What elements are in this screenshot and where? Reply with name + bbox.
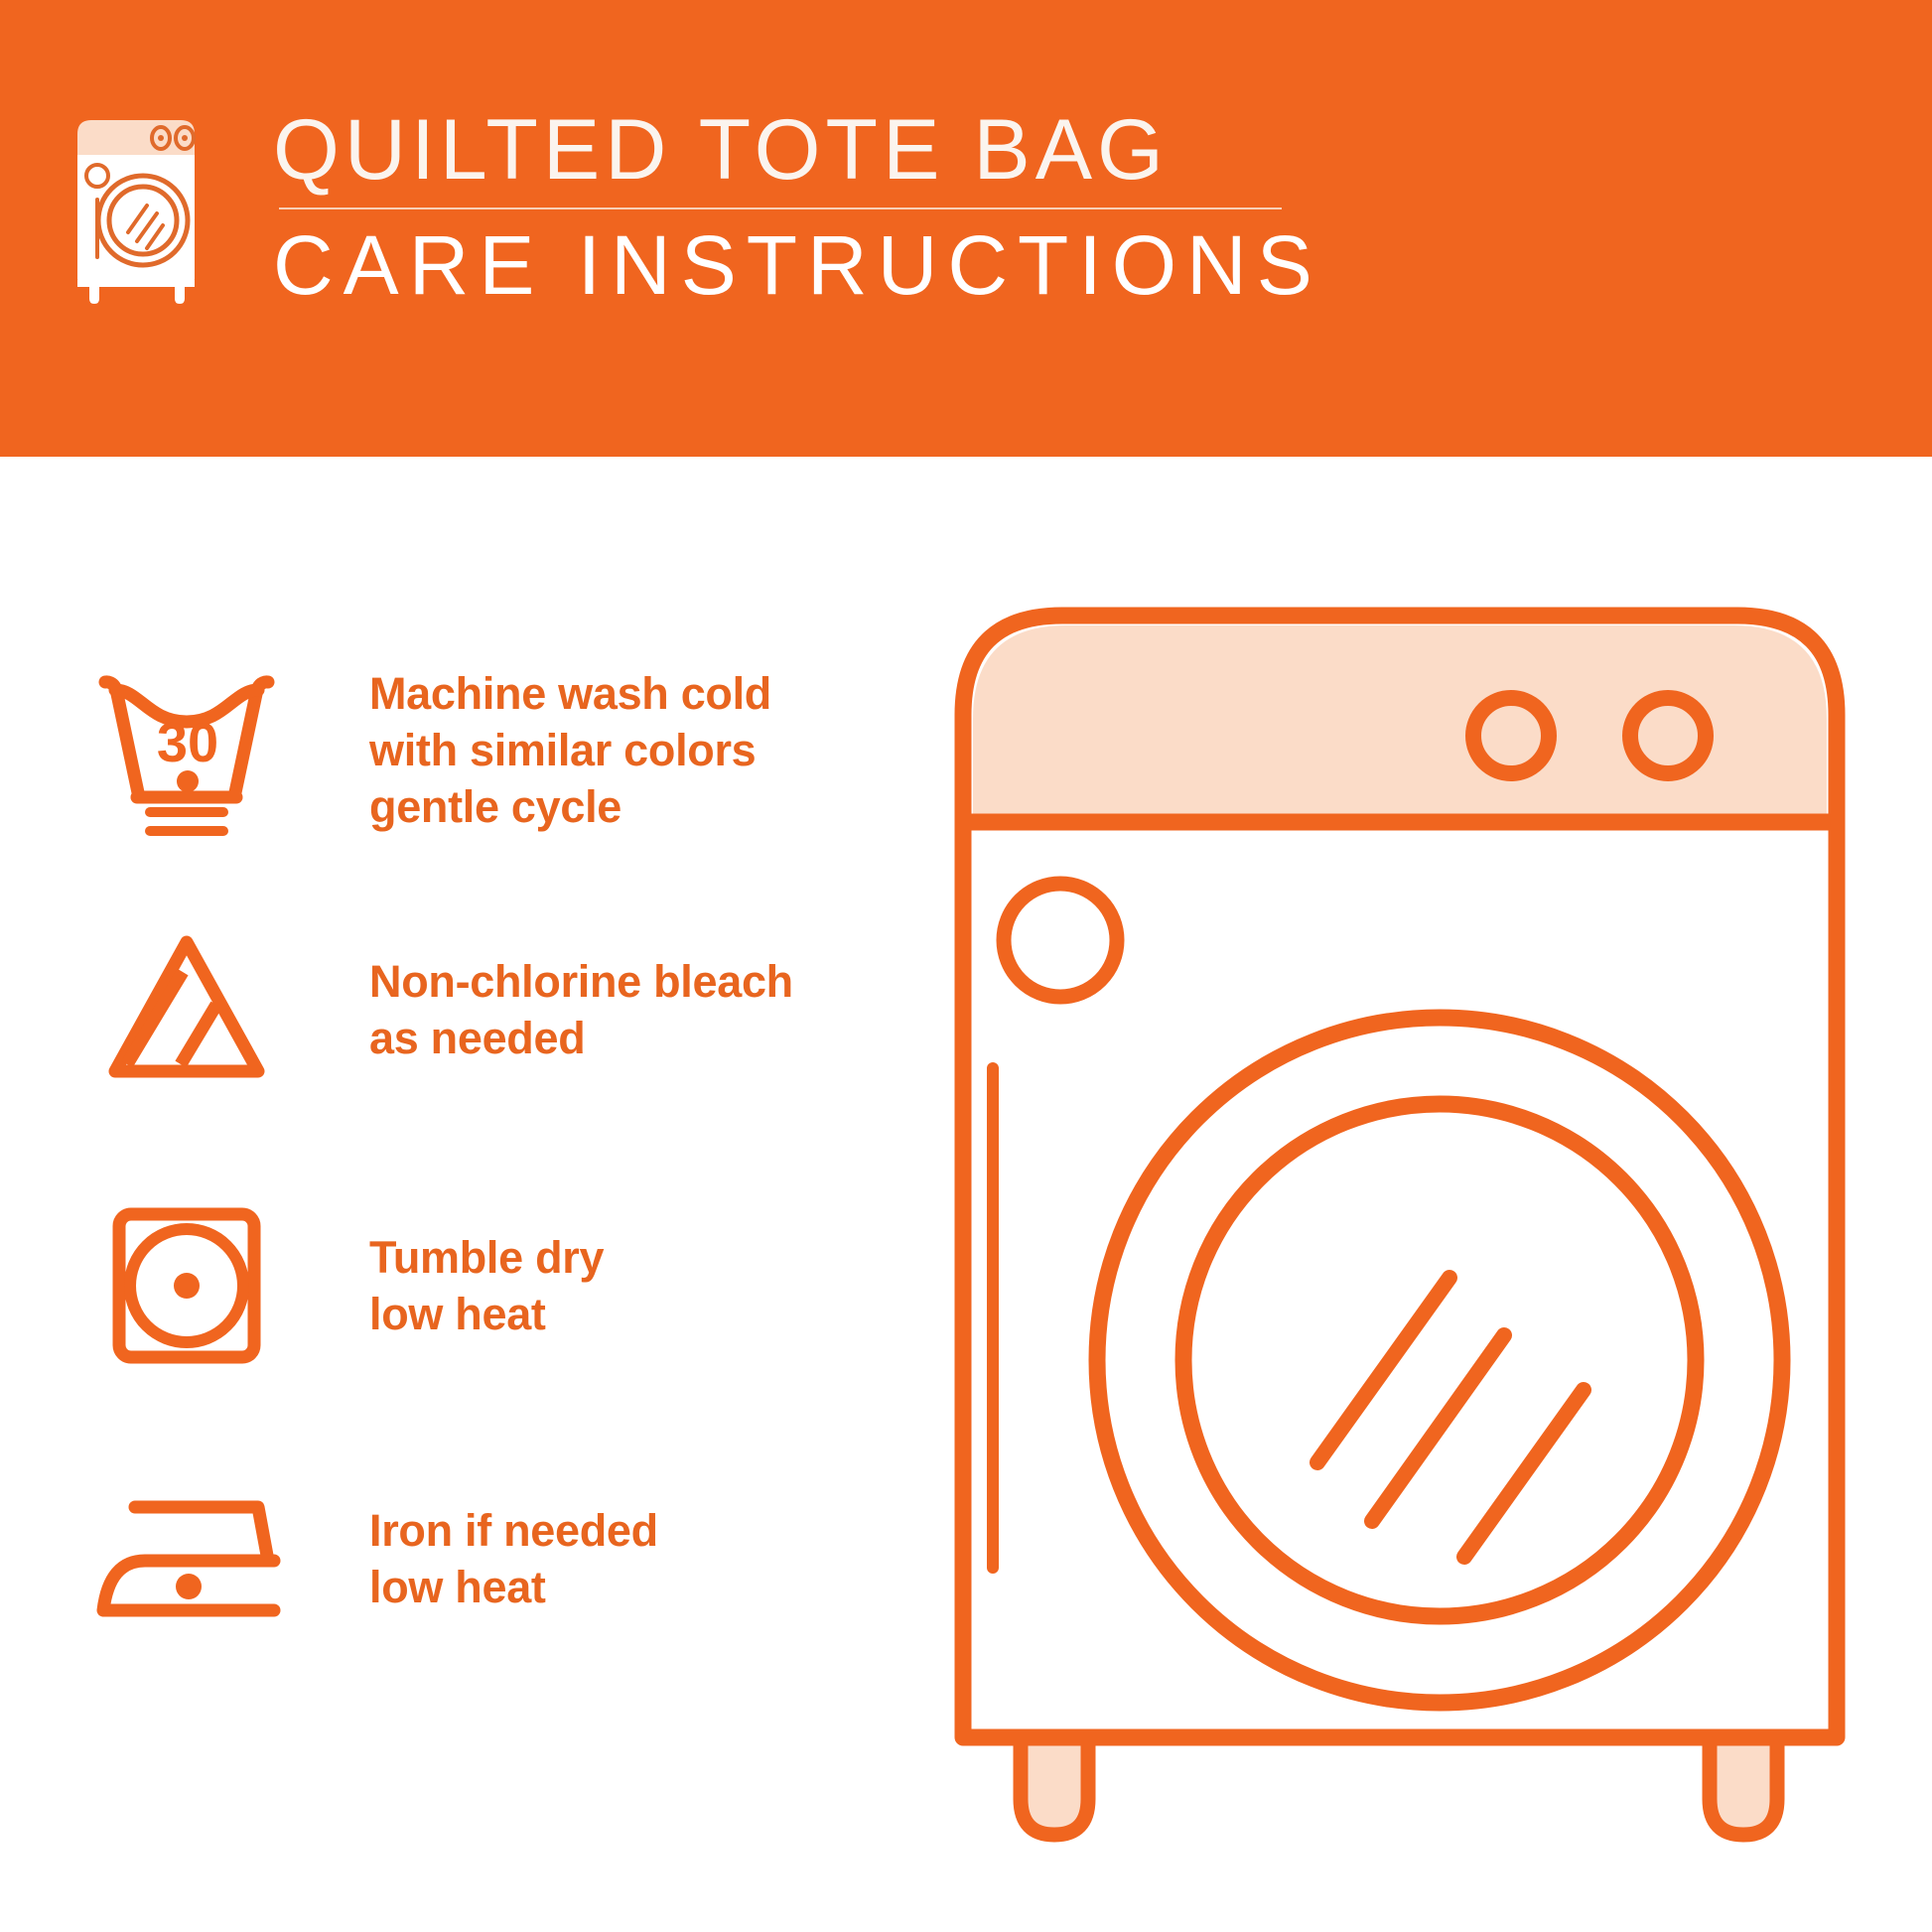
header-band: QUILTED TOTE BAG CARE INSTRUCTIONS — [0, 0, 1932, 457]
control-knob-left — [1473, 698, 1549, 773]
tumble-dry-low-heat-icon — [77, 1196, 296, 1375]
wash-tub-30-gentle-icon: 30 — [77, 660, 296, 839]
iron-low-heat-icon — [77, 1469, 296, 1648]
list-item-label: Machine wash cold with similar colors ge… — [369, 665, 933, 835]
header-titles: QUILTED TOTE BAG CARE INSTRUCTIONS — [273, 104, 1322, 311]
control-knob-right — [1630, 698, 1706, 773]
page-subtitle: CARE INSTRUCTIONS — [273, 219, 1322, 311]
title-divider — [279, 207, 1282, 209]
list-item: Iron if needed low heat — [0, 1445, 933, 1673]
front-load-washing-machine-illustration — [943, 596, 1857, 1886]
list-item: 30 Machine wash cold with similar colors… — [0, 635, 933, 864]
door-seam — [987, 1062, 999, 1574]
header-content: QUILTED TOTE BAG CARE INSTRUCTIONS — [71, 104, 1312, 343]
list-item: Tumble dry low heat — [0, 1172, 933, 1400]
page-title: QUILTED TOTE BAG — [273, 104, 1322, 196]
washing-machine-icon — [71, 116, 215, 305]
non-chlorine-bleach-triangle-icon — [77, 920, 296, 1099]
list-item: Non-chlorine bleach as needed — [0, 896, 933, 1124]
list-item-label: Tumble dry low heat — [369, 1229, 933, 1342]
list-item-label: Iron if needed low heat — [369, 1502, 933, 1615]
wash-temp-value: 30 — [157, 711, 218, 773]
care-instruction-list: 30 Machine wash cold with similar colors… — [0, 635, 933, 1777]
list-item-label: Non-chlorine bleach as needed — [369, 953, 933, 1066]
